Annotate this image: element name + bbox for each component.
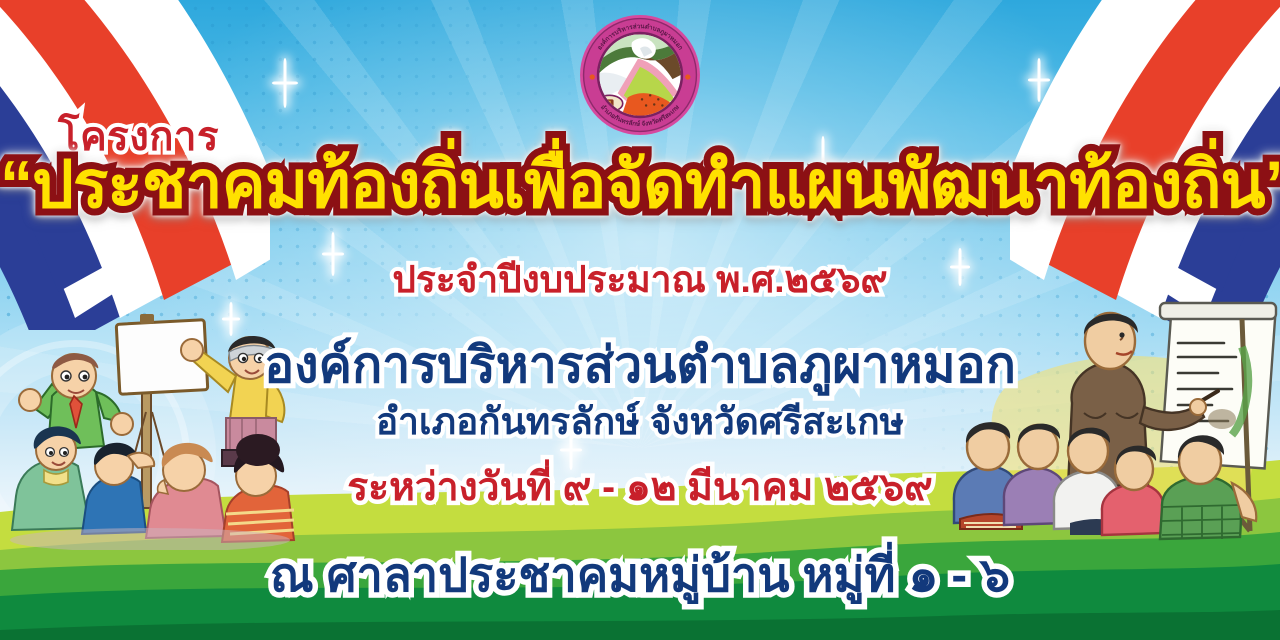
budget-year: ประจำปีงบประมาณ พ.ศ.๒๕๖๙ <box>0 250 1280 309</box>
event-venue: ณ ศาลาประชาคมหมู่บ้าน หมู่ที่ ๑ - ๖ <box>0 537 1280 612</box>
district-province: อำเภอกันทรลักษ์ จังหวัดศรีสะเกษ <box>0 392 1280 451</box>
banner-title: “ประชาคมท้องถิ่นเพื่อจัดทำแผนพัฒนาท้องถิ… <box>0 150 1280 219</box>
event-dates: ระหว่างวันที่ ๙ - ๑๒ มีนาคม ๒๕๖๙ <box>0 456 1280 518</box>
event-banner: องค์การบริหารส่วนตำบลภูผาหมอก อำเภอกันทร… <box>0 0 1280 640</box>
banner-text-content: โครงการ “ประชาคมท้องถิ่นเพื่อจัดทำแผนพัฒ… <box>0 0 1280 640</box>
